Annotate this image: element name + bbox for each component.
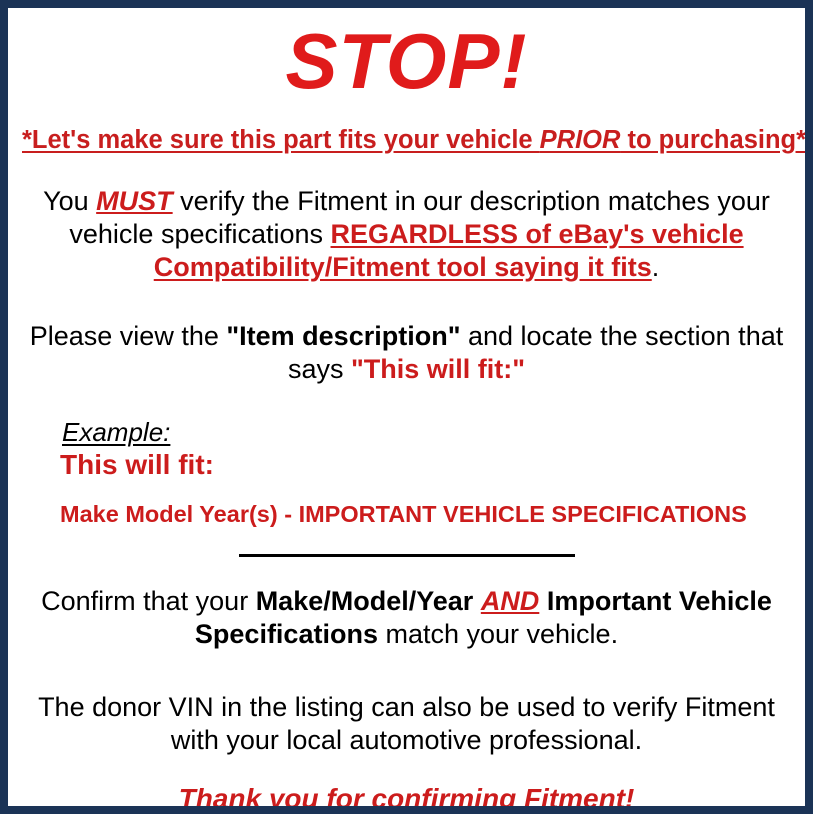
paragraph-confirm: Confirm that your Make/Model/Year AND Im… [22, 585, 791, 651]
must-emphasis: MUST [96, 186, 173, 216]
closing-thank-you: Thank you for confirming Fitment! [22, 783, 791, 814]
subtitle-lead: *Let's make sure this part fits your veh… [22, 126, 540, 154]
confirm-segment-4: match your vehicle. [378, 619, 618, 649]
item-description-label: "Item description" [226, 321, 460, 351]
paragraph-item-description: Please view the "Item description" and l… [22, 320, 791, 386]
make-model-year-label: Make/Model/Year [256, 586, 474, 616]
notice-inner: STOP! *Let's make sure this part fits yo… [8, 22, 805, 814]
confirm-segment-1: Confirm that your [41, 586, 256, 616]
confirm-segment-2 [473, 586, 481, 616]
confirm-segment-3 [539, 586, 547, 616]
divider-line [239, 554, 575, 557]
paragraph-must-verify: You MUST verify the Fitment in our descr… [22, 185, 791, 284]
example-spec-line: Make Model Year(s) - IMPORTANT VEHICLE S… [60, 502, 791, 528]
desc-segment-1: Please view the [30, 321, 227, 351]
example-block: Example: This will fit: Make Model Year(… [22, 418, 791, 528]
must-segment-1: You [43, 186, 96, 216]
example-label-row: Example: [62, 418, 791, 447]
subtitle-tail: to purchasing* [620, 126, 806, 154]
fitment-notice-card: STOP! *Let's make sure this part fits yo… [0, 0, 813, 814]
divider [22, 554, 791, 557]
subtitle-banner: *Let's make sure this part fits your veh… [22, 126, 791, 155]
example-fit-heading: This will fit: [60, 449, 791, 480]
and-emphasis: AND [481, 586, 540, 616]
paragraph-donor-vin: The donor VIN in the listing can also be… [22, 691, 791, 757]
subtitle-emphasis: PRIOR [540, 126, 621, 154]
this-will-fit-label: "This will fit:" [351, 354, 525, 384]
example-label: Example: [62, 418, 170, 447]
must-segment-3: . [652, 252, 660, 282]
page-title: STOP! [22, 22, 791, 100]
